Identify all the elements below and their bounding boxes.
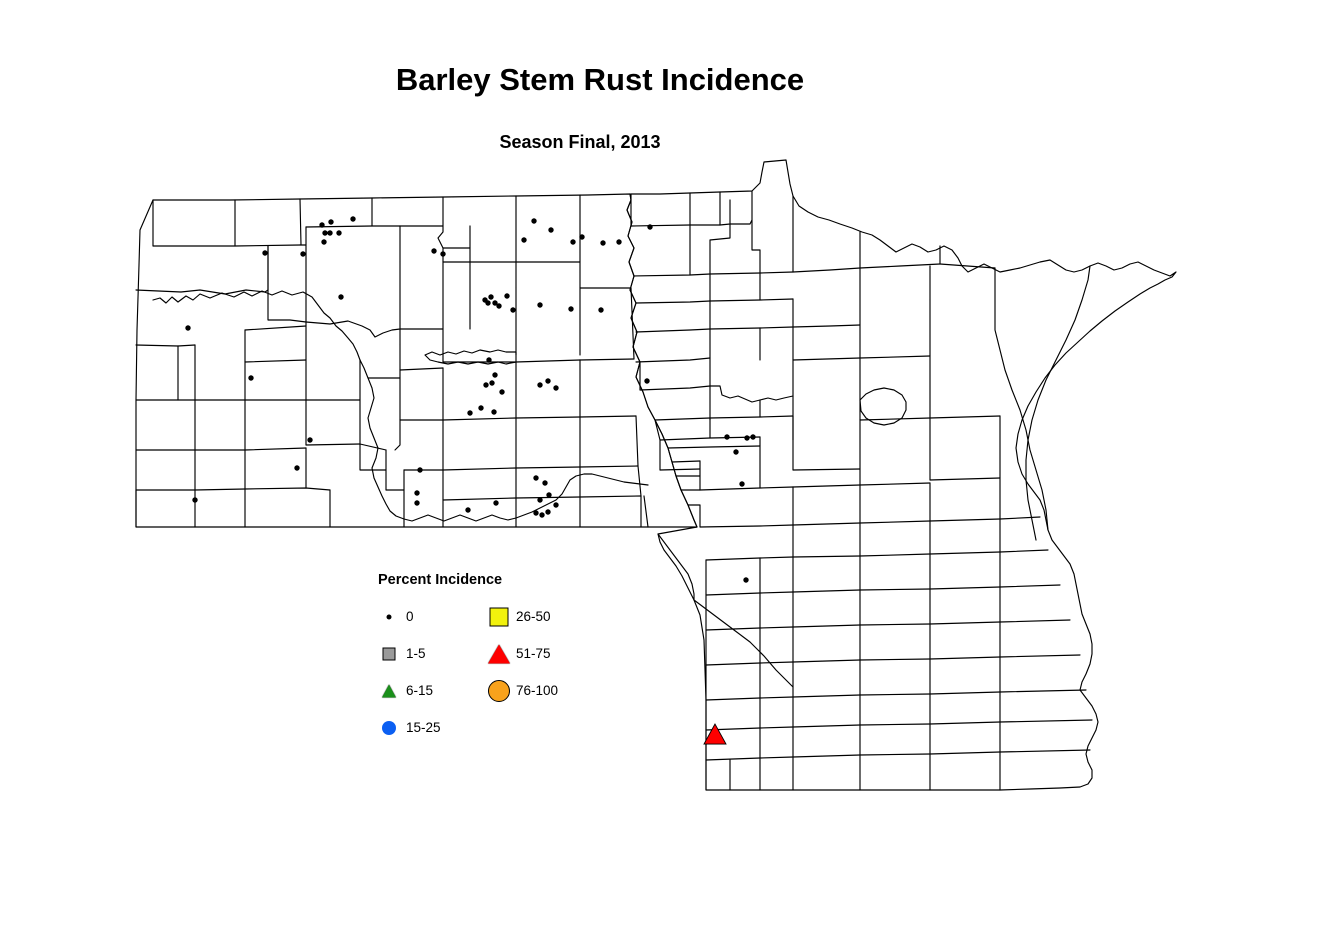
incidence-dot xyxy=(417,467,422,472)
incidence-dot xyxy=(294,465,299,470)
incidence-dot xyxy=(733,449,738,454)
legend-label-0: 0 xyxy=(406,608,414,626)
incidence-dot xyxy=(485,300,490,305)
incidence-dot xyxy=(598,307,603,312)
incidence-dot xyxy=(553,502,558,507)
incidence-dot xyxy=(504,293,509,298)
incidence-dot xyxy=(322,230,327,235)
incidence-dot xyxy=(600,240,605,245)
map-figure: Barley Stem Rust Incidence Season Final,… xyxy=(0,0,1341,926)
incidence-dot xyxy=(491,409,496,414)
incidence-dot xyxy=(465,507,470,512)
incidence-dot xyxy=(744,435,749,440)
incidence-dot xyxy=(321,239,326,244)
lake-sakakawea xyxy=(153,291,360,360)
incidence-dot xyxy=(185,325,190,330)
incidence-dot xyxy=(743,577,748,582)
incidence-dot xyxy=(350,216,355,221)
incidence-dot xyxy=(499,389,504,394)
incidence-dot xyxy=(533,475,538,480)
minnesota-river xyxy=(694,600,793,687)
incidence-dot xyxy=(545,378,550,383)
incidence-dot xyxy=(537,382,542,387)
legend-label-76-100: 76-100 xyxy=(516,682,558,700)
incidence-dot xyxy=(488,294,493,299)
incidence-dot xyxy=(489,380,494,385)
incidence-dot xyxy=(750,434,755,439)
incidence-dot xyxy=(548,227,553,232)
minnesota-outline xyxy=(627,160,1176,790)
incidence-dot xyxy=(414,490,419,495)
legend-label-51-75: 51-75 xyxy=(516,645,551,663)
incidence-dot xyxy=(486,357,491,362)
yellow-square-icon xyxy=(486,604,512,630)
incidence-dot xyxy=(300,251,305,256)
incidence-dot xyxy=(336,230,341,235)
incidence-dot xyxy=(327,230,332,235)
incidence-dot xyxy=(521,237,526,242)
north-dakota-outline xyxy=(136,194,697,527)
incidence-dot xyxy=(570,239,575,244)
incidence-dot xyxy=(537,497,542,502)
incidence-dot xyxy=(467,410,472,415)
incidence-dot xyxy=(616,239,621,244)
incidence-dot xyxy=(328,219,333,224)
incidence-dot xyxy=(307,437,312,442)
incidence-dot xyxy=(579,234,584,239)
incidence-dot xyxy=(192,497,197,502)
blue-circle-icon xyxy=(376,715,402,741)
map-canvas xyxy=(0,0,1341,926)
incidence-dot xyxy=(539,512,544,517)
incidence-dot xyxy=(483,382,488,387)
incidence-dot xyxy=(568,306,573,311)
red-triangle-marker xyxy=(704,724,726,744)
incidence-dot xyxy=(496,303,501,308)
incidence-dot xyxy=(493,500,498,505)
incidence-dot xyxy=(414,500,419,505)
legend: Percent Incidence 0 1-5 6-15 xyxy=(376,572,591,722)
incidence-dot xyxy=(545,509,550,514)
incidence-dot xyxy=(492,372,497,377)
legend-label-6-15: 6-15 xyxy=(406,682,433,700)
legend-label-26-50: 26-50 xyxy=(516,608,551,626)
legend-label-1-5: 1-5 xyxy=(406,645,426,663)
incidence-dot xyxy=(510,307,515,312)
legend-label-15-25: 15-25 xyxy=(406,719,441,737)
incidence-dot xyxy=(319,222,324,227)
incidence-dot xyxy=(440,251,445,256)
incidence-dot xyxy=(431,248,436,253)
incidence-dot xyxy=(739,481,744,486)
orange-circle-icon xyxy=(486,678,512,704)
incidence-dot xyxy=(542,480,547,485)
incidence-dot xyxy=(478,405,483,410)
incidence-dot xyxy=(647,224,652,229)
red-triangle-icon xyxy=(486,641,512,667)
incidence-dot xyxy=(533,510,538,515)
incidence-dot xyxy=(546,492,551,497)
incidence-dot xyxy=(644,378,649,383)
gray-square-icon xyxy=(376,641,402,667)
incidence-dot xyxy=(248,375,253,380)
green-triangle-icon xyxy=(376,678,402,704)
high-incidence-markers xyxy=(704,724,726,744)
state-county-boundaries xyxy=(136,160,1176,790)
incidence-dot xyxy=(262,250,267,255)
incidence-dot xyxy=(537,302,542,307)
incidence-dot xyxy=(531,218,536,223)
legend-heading: Percent Incidence xyxy=(378,572,502,588)
incidence-dot xyxy=(338,294,343,299)
small-black-dot-icon xyxy=(376,604,402,630)
incidence-dot xyxy=(553,385,558,390)
incidence-dot xyxy=(724,434,729,439)
